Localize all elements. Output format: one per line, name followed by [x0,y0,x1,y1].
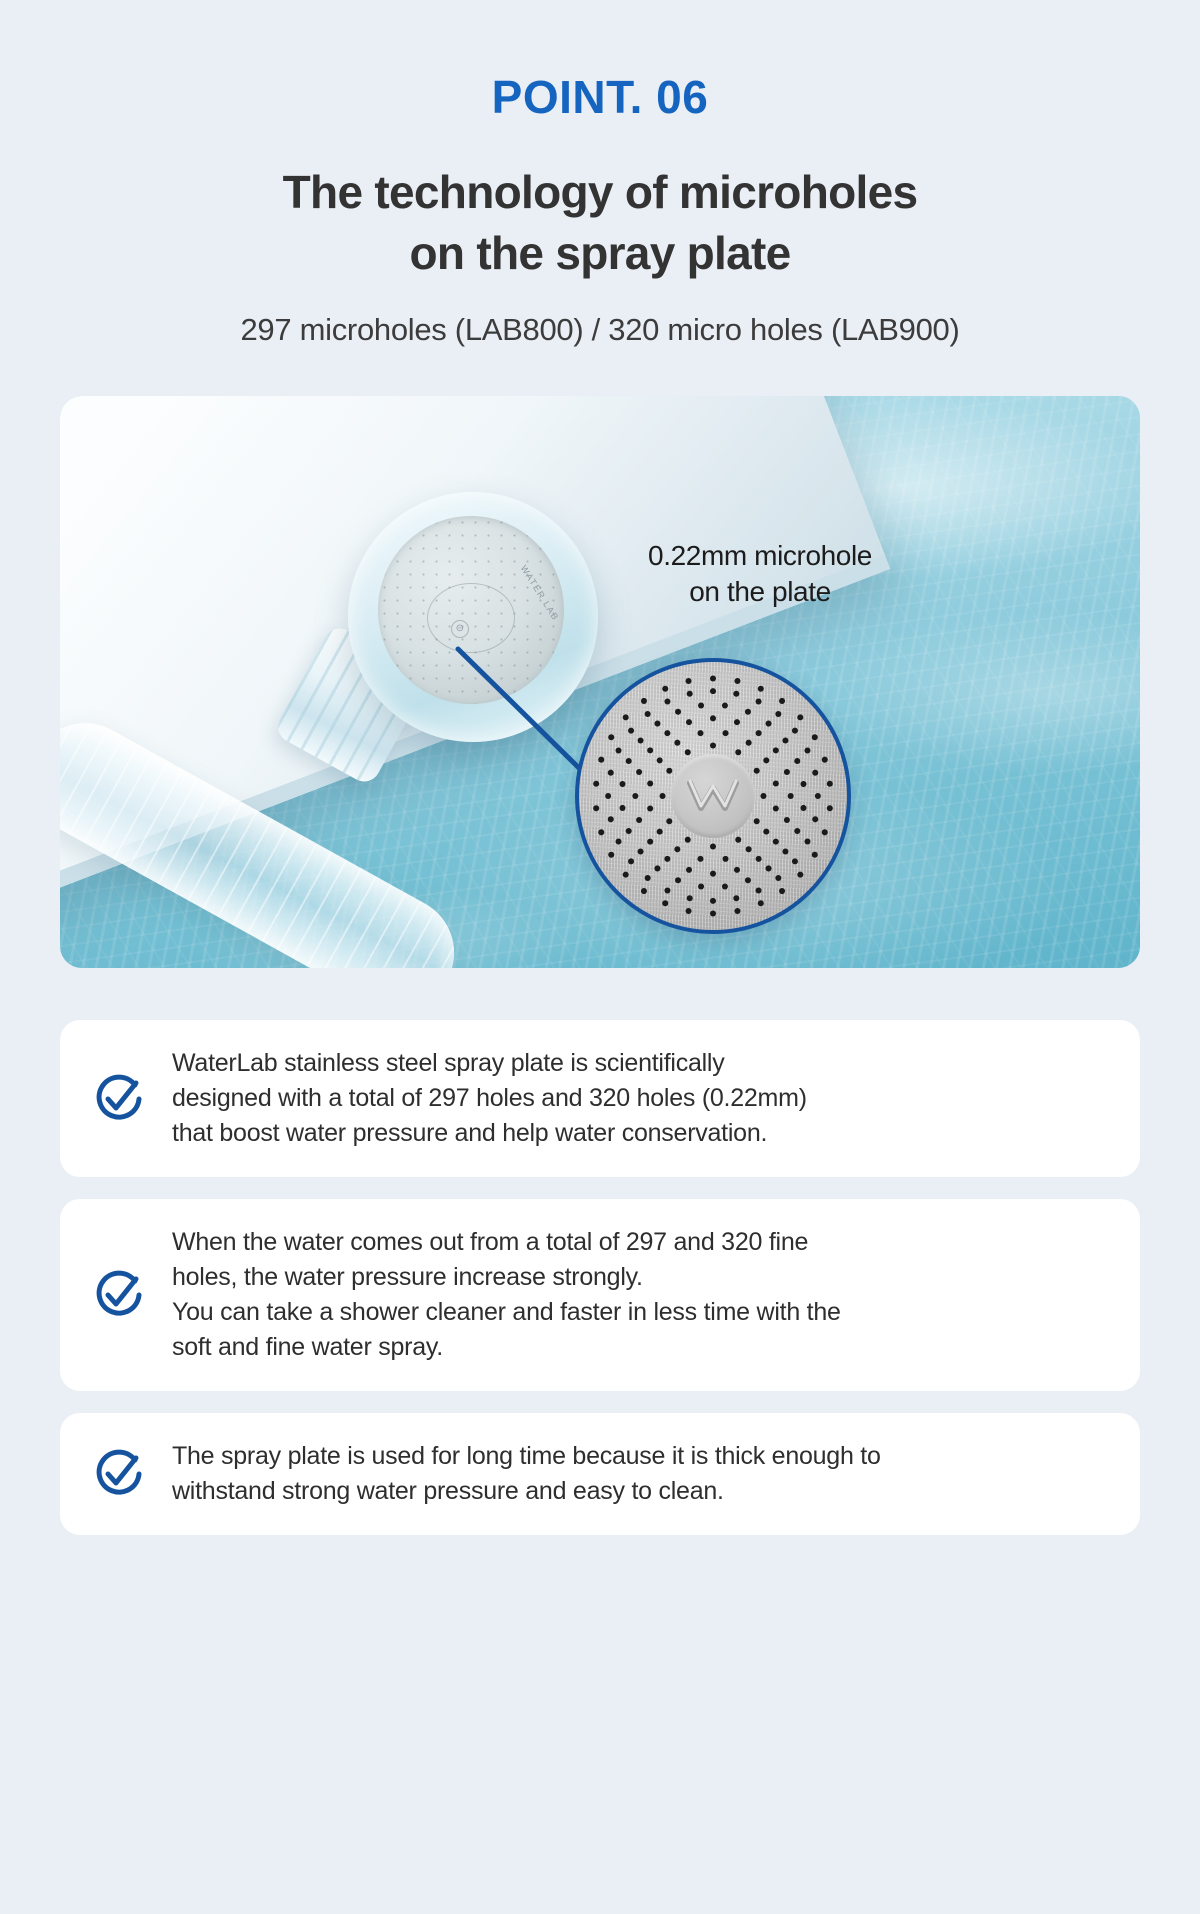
shower-head-plate: ⊝ [378,516,564,704]
point-label: POINT. 06 [0,74,1200,120]
list-item-line: holes, the water pressure increase stron… [172,1260,841,1295]
w-logo-icon [686,779,740,813]
product-hero-image: ⊝ WATER LAB 0.22mm microhole on the plat… [60,396,1140,968]
list-item-text: WaterLab stainless steel spray plate is … [150,1046,807,1151]
page-subtitle: 297 microholes (LAB800) / 320 micro hole… [0,312,1200,348]
list-item-line: soft and fine water spray. [172,1330,841,1365]
callout-label: 0.22mm microhole on the plate [600,538,920,609]
list-item-text: When the water comes out from a total of… [150,1225,841,1365]
callout-label-line-1: 0.22mm microhole [600,538,920,573]
shower-head-center-badge: ⊝ [451,620,469,638]
list-item-text: The spray plate is used for long time be… [150,1439,881,1509]
list-item-line: that boost water pressure and help water… [172,1116,807,1151]
callout-label-line-2: on the plate [600,574,920,609]
waterlab-logo-emboss [671,754,755,838]
list-item: When the water comes out from a total of… [60,1199,1140,1391]
shower-head-ring [427,583,515,653]
list-item-line: designed with a total of 297 holes and 3… [172,1081,807,1116]
list-item: WaterLab stainless steel spray plate is … [60,1020,1140,1177]
list-item-line: When the water comes out from a total of… [172,1225,841,1260]
page-title: The technology of microholes on the spra… [0,162,1200,284]
magnified-spray-plate [575,658,851,934]
page-header: POINT. 06 The technology of microholes o… [0,0,1200,348]
list-item: The spray plate is used for long time be… [60,1413,1140,1535]
list-item-line: WaterLab stainless steel spray plate is … [172,1046,807,1081]
list-item-line: You can take a shower cleaner and faster… [172,1295,841,1330]
check-circle-icon [88,1267,150,1323]
feature-list: WaterLab stainless steel spray plate is … [60,1020,1140,1535]
check-circle-icon [88,1071,150,1127]
check-circle-icon [88,1446,150,1502]
page-title-line-2: on the spray plate [0,223,1200,284]
list-item-line: The spray plate is used for long time be… [172,1439,881,1474]
shower-head: ⊝ WATER LAB [348,492,598,742]
page-title-line-1: The technology of microholes [0,162,1200,223]
list-item-line: withstand strong water pressure and easy… [172,1474,881,1509]
